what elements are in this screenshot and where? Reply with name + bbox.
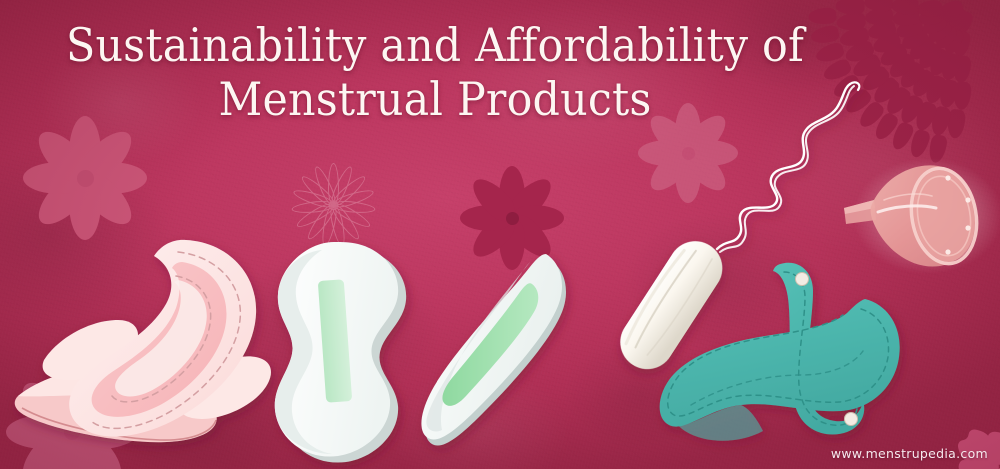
cup-air-hole [945,175,950,180]
cup-air-hole [965,197,970,202]
cup-air-hole [965,225,970,230]
product-menstrual-cup [838,148,1000,283]
product-disposable-pad-white-curvy [262,242,432,469]
cloth-pad-snap-top [796,273,809,286]
cloth-pad-snap-bottom [845,413,858,426]
site-watermark: www.menstrupedia.com [831,446,988,461]
cup-air-hole [945,249,950,254]
banner-root: Sustainability and Affordability of Mens… [0,0,1000,469]
product-cloth-pad-reusable-teal [655,255,915,469]
product-panty-liner-green-strip [420,248,590,469]
